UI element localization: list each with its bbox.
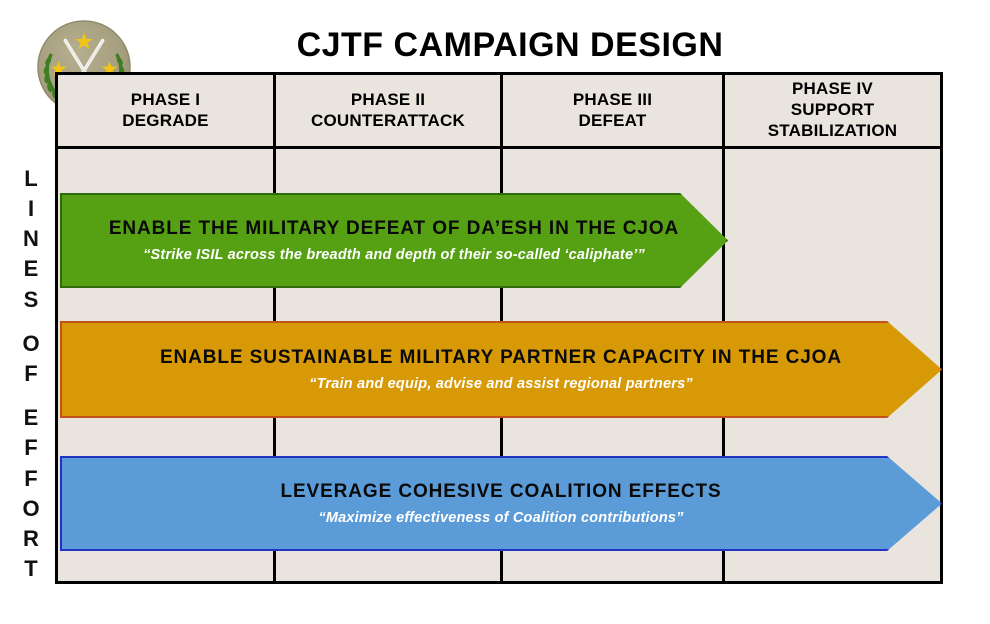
loe-subtext: “Maximize effectiveness of Coalition con…	[318, 510, 683, 526]
phase-header-line: PHASE III	[573, 90, 652, 111]
phase-header-line: DEFEAT	[579, 111, 647, 132]
loe-headline: LEVERAGE COHESIVE COALITION EFFECTS	[280, 481, 721, 503]
phase-header-4: PHASE IV SUPPORT STABILIZATION	[725, 75, 940, 146]
phase-header-1: PHASE I DEGRADE	[58, 75, 276, 146]
loe-arrow-coalition-effects[interactable]: LEVERAGE COHESIVE COALITION EFFECTS “Max…	[60, 456, 942, 551]
loe-headline: ENABLE THE MILITARY DEFEAT OF DA’ESH IN …	[109, 218, 679, 240]
loe-letter: F	[24, 363, 37, 385]
campaign-matrix: PHASE I DEGRADE PHASE II COUNTERATTACK P…	[55, 72, 943, 584]
campaign-design-slide: CJTF CAMPAIGN DESIGN L I N E S O F E F F…	[0, 0, 990, 624]
phase-header-line: DEGRADE	[122, 111, 208, 132]
phase-header-line: SUPPORT	[791, 100, 875, 121]
phase-header-line: PHASE IV	[792, 79, 873, 100]
phase-header-line: COUNTERATTACK	[311, 111, 465, 132]
phase-header-3: PHASE III DEFEAT	[503, 75, 725, 146]
loe-subtext: “Train and equip, advise and assist regi…	[309, 376, 693, 392]
loe-letter: T	[24, 558, 37, 580]
loe-letter: E	[24, 407, 39, 429]
loe-letter: F	[24, 468, 37, 490]
phase-header-line: PHASE I	[131, 90, 200, 111]
phase-header-line: STABILIZATION	[768, 121, 897, 142]
lines-of-effort-label: L I N E S O F E F F O R T	[14, 168, 48, 580]
loe-arrow-partner-capacity[interactable]: ENABLE SUSTAINABLE MILITARY PARTNER CAPA…	[60, 321, 942, 418]
loe-letter: R	[23, 528, 39, 550]
page-title: CJTF CAMPAIGN DESIGN	[150, 26, 870, 65]
loe-letter: E	[24, 258, 39, 280]
loe-letter: O	[22, 333, 39, 355]
loe-letter: F	[24, 437, 37, 459]
loe-letter: N	[23, 228, 39, 250]
loe-headline: ENABLE SUSTAINABLE MILITARY PARTNER CAPA…	[160, 347, 842, 369]
loe-letter: L	[24, 168, 37, 190]
loe-letter: S	[24, 289, 39, 311]
loe-arrow-military-defeat[interactable]: ENABLE THE MILITARY DEFEAT OF DA’ESH IN …	[60, 193, 728, 288]
phase-header-row: PHASE I DEGRADE PHASE II COUNTERATTACK P…	[58, 75, 940, 149]
phase-header-2: PHASE II COUNTERATTACK	[276, 75, 503, 146]
phase-header-line: PHASE II	[351, 90, 425, 111]
loe-subtext: “Strike ISIL across the breadth and dept…	[143, 247, 645, 263]
loe-letter: I	[28, 198, 34, 220]
loe-letter: O	[22, 498, 39, 520]
